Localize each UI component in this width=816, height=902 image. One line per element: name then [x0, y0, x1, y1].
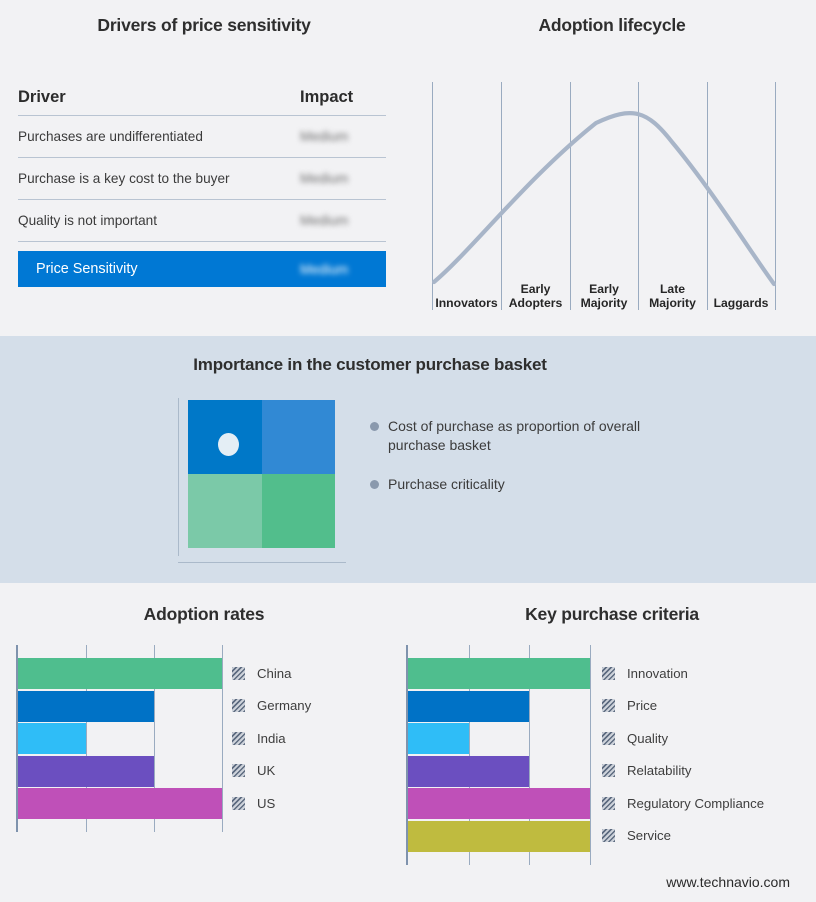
hatched-swatch-icon	[602, 699, 615, 712]
lifecycle-label-laggards: Laggards	[707, 296, 775, 310]
hatched-swatch-icon	[232, 764, 245, 777]
purchase-basket-quadrant-chart	[178, 398, 346, 563]
legend-item: Innovation	[602, 666, 688, 681]
gridline	[222, 645, 223, 832]
table-row: Quality is not important Medium	[18, 200, 386, 242]
hatched-swatch-icon	[602, 667, 615, 680]
legend-label: Cost of purchase as proportion of overal…	[388, 417, 643, 455]
bar-innovation	[408, 658, 590, 689]
driver-label: Purchases are undifferentiated	[18, 129, 300, 144]
legend-item: Purchase criticality	[370, 475, 670, 494]
legend-label: Service	[627, 828, 671, 843]
summary-label: Price Sensitivity	[36, 261, 300, 277]
driver-label: Quality is not important	[18, 213, 300, 228]
legend-label: India	[257, 731, 286, 746]
legend-label: Price	[627, 698, 657, 713]
bar-us	[18, 788, 222, 819]
legend-item: Price	[602, 698, 657, 713]
lifecycle-label-early-adopters: Early Adopters	[501, 282, 570, 310]
legend-item: Regulatory Compliance	[602, 796, 764, 811]
bar-regulatory-compliance	[408, 788, 590, 819]
lifecycle-label-early-majority: Early Majority	[570, 282, 638, 310]
bar-china	[18, 658, 222, 689]
hatched-swatch-icon	[602, 797, 615, 810]
drivers-panel-title: Drivers of price sensitivity	[0, 15, 408, 36]
legend-label: Innovation	[627, 666, 688, 681]
legend-label: Relatability	[627, 763, 692, 778]
hatched-swatch-icon	[232, 797, 245, 810]
legend-label: Regulatory Compliance	[627, 796, 764, 811]
hatched-swatch-icon	[232, 667, 245, 680]
legend-item: Service	[602, 828, 671, 843]
bar-uk	[18, 756, 154, 787]
hatched-swatch-icon	[602, 764, 615, 777]
gridline	[590, 645, 591, 865]
legend-item: Relatability	[602, 763, 692, 778]
legend-label: China	[257, 666, 291, 681]
quadrant-grid	[188, 400, 335, 548]
impact-value: Medium	[300, 129, 386, 144]
legend-item: UK	[232, 763, 275, 778]
adoption-rates-title: Adoption rates	[0, 604, 408, 625]
hatched-swatch-icon	[232, 732, 245, 745]
column-header-driver: Driver	[18, 88, 300, 107]
bullet-icon	[370, 480, 379, 489]
legend-label: Germany	[257, 698, 311, 713]
legend-item: Quality	[602, 731, 668, 746]
importance-legend: Cost of purchase as proportion of overal…	[370, 417, 670, 514]
table-row: Purchase is a key cost to the buyer Medi…	[18, 158, 386, 200]
lifecycle-label-innovators: Innovators	[432, 296, 501, 310]
adoption-rates-chart: ChinaGermanyIndiaUKUS	[16, 645, 396, 845]
quadrant-marker-dot	[218, 433, 239, 456]
lifecycle-bell-curve	[432, 82, 776, 310]
key-purchase-criteria-title: Key purchase criteria	[408, 604, 816, 625]
quadrant-cell-bottom-right	[262, 474, 336, 548]
column-header-impact: Impact	[300, 88, 386, 107]
bar-quality	[408, 723, 469, 754]
hatched-swatch-icon	[232, 699, 245, 712]
lifecycle-label-late-majority: Late Majority	[638, 282, 707, 310]
drivers-table-header: Driver Impact	[18, 88, 386, 116]
hatched-swatch-icon	[602, 829, 615, 842]
legend-label: Quality	[627, 731, 668, 746]
summary-impact-value: Medium	[300, 262, 386, 277]
importance-panel-title: Importance in the customer purchase bask…	[0, 355, 740, 375]
hatched-swatch-icon	[602, 732, 615, 745]
footer-url: www.technavio.com	[666, 874, 790, 890]
lifecycle-chart: Innovators Early Adopters Early Majority…	[432, 82, 776, 310]
drivers-table: Driver Impact Purchases are undifferenti…	[18, 88, 386, 287]
price-sensitivity-summary-row: Price Sensitivity Medium	[18, 251, 386, 287]
bar-relatability	[408, 756, 529, 787]
table-row: Purchases are undifferentiated Medium	[18, 116, 386, 158]
legend-item: India	[232, 731, 286, 746]
impact-value: Medium	[300, 171, 386, 186]
legend-label: US	[257, 796, 275, 811]
quadrant-cell-top-right	[262, 400, 336, 474]
quadrant-cell-bottom-left	[188, 474, 262, 548]
legend-item: Germany	[232, 698, 311, 713]
lifecycle-panel-title: Adoption lifecycle	[408, 15, 816, 36]
legend-label: UK	[257, 763, 275, 778]
driver-label: Purchase is a key cost to the buyer	[18, 171, 300, 186]
quadrant-axis-x	[178, 562, 346, 563]
impact-value: Medium	[300, 213, 386, 228]
bar-service	[408, 821, 590, 852]
quadrant-axis-y	[178, 398, 179, 556]
criteria-plot-area	[406, 645, 590, 865]
key-purchase-criteria-chart: InnovationPriceQualityRelatabilityRegula…	[406, 645, 806, 870]
bar-germany	[18, 691, 154, 722]
bullet-icon	[370, 422, 379, 431]
legend-item: China	[232, 666, 291, 681]
adoption-plot-area	[16, 645, 222, 832]
legend-item: Cost of purchase as proportion of overal…	[370, 417, 670, 455]
bar-india	[18, 723, 86, 754]
bar-price	[408, 691, 529, 722]
legend-label: Purchase criticality	[388, 475, 505, 494]
legend-item: US	[232, 796, 275, 811]
